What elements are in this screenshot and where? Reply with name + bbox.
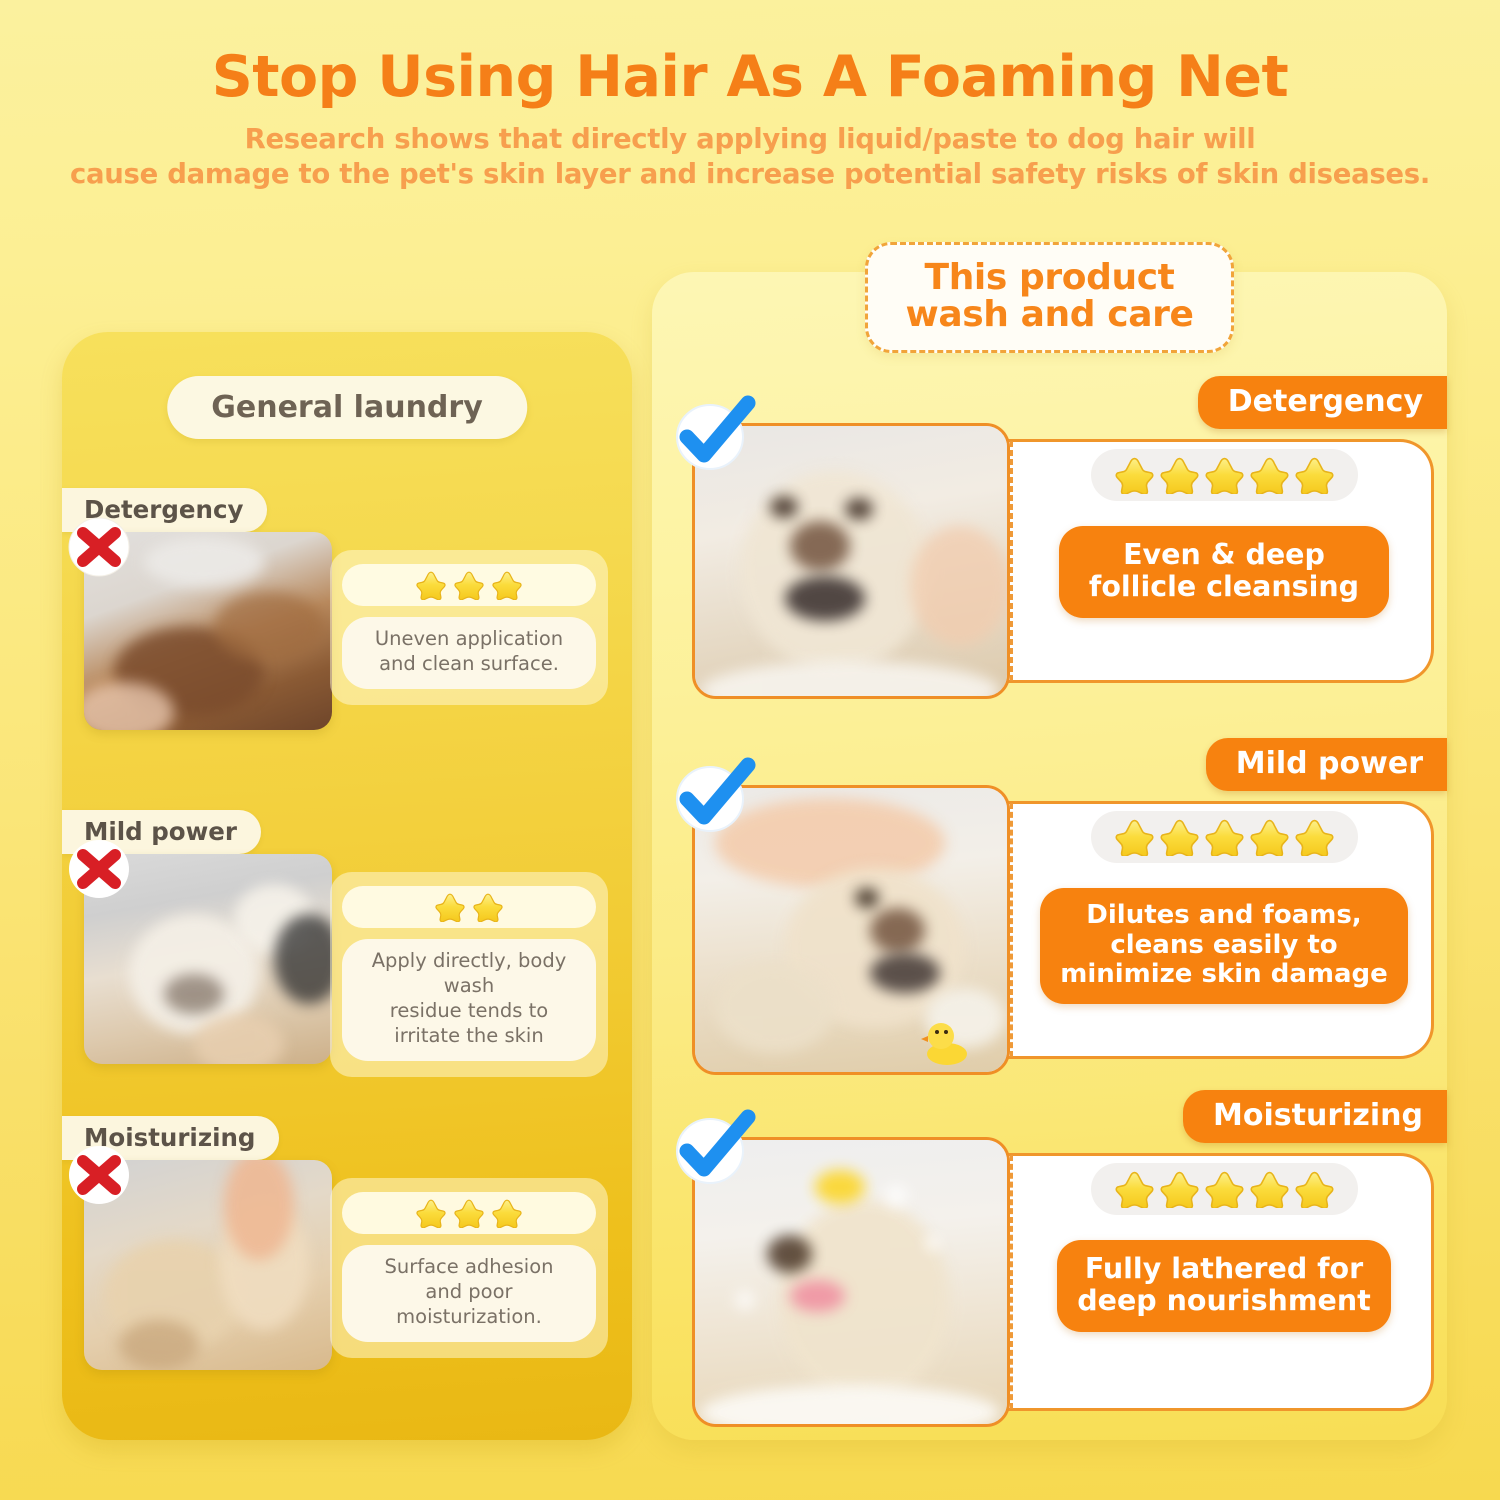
star-icon bbox=[1205, 457, 1244, 494]
subtitle-line-1: Research shows that directly applying li… bbox=[0, 122, 1500, 157]
star-icon bbox=[1205, 819, 1244, 856]
page-header: Stop Using Hair As A Foaming Net Researc… bbox=[0, 0, 1500, 192]
star-icon bbox=[435, 893, 465, 922]
red-x-icon bbox=[67, 516, 131, 578]
description-line: and poor moisturization. bbox=[356, 1280, 582, 1330]
page-subtitle: Research shows that directly applying li… bbox=[0, 122, 1500, 192]
message-line-1: Fully lathered for bbox=[1077, 1253, 1371, 1285]
left-panel-heading: General laundry bbox=[167, 376, 527, 439]
red-x-icon bbox=[67, 1144, 131, 1206]
right-card-message: Dilutes and foams, cleans easily to mini… bbox=[1040, 888, 1408, 1003]
star-icon bbox=[1160, 457, 1199, 494]
message-line-3: minimize skin damage bbox=[1060, 960, 1388, 989]
card-divider bbox=[1010, 441, 1013, 681]
left-row-rating bbox=[342, 1192, 596, 1234]
this-product-panel: This product wash and care Detergency bbox=[652, 272, 1447, 1440]
star-icon bbox=[454, 1199, 484, 1228]
star-icon bbox=[492, 571, 522, 600]
right-card-message: Fully lathered for deep nourishment bbox=[1057, 1240, 1391, 1332]
right-heading-line-2: wash and care bbox=[906, 296, 1194, 333]
star-icon bbox=[1250, 819, 1289, 856]
blue-check-icon bbox=[670, 393, 756, 473]
subtitle-line-2: cause damage to the pet's skin layer and… bbox=[0, 157, 1500, 192]
star-icon bbox=[492, 1199, 522, 1228]
star-icon bbox=[1115, 1171, 1154, 1208]
star-icon bbox=[1115, 457, 1154, 494]
star-icon bbox=[454, 571, 484, 600]
left-row-rating bbox=[342, 564, 596, 606]
left-row-description: Uneven applicationand clean surface. bbox=[342, 617, 596, 689]
star-icon bbox=[1295, 457, 1334, 494]
star-icon bbox=[1115, 819, 1154, 856]
right-panel-heading: This product wash and care bbox=[865, 242, 1235, 353]
right-heading-line-1: This product bbox=[906, 259, 1194, 296]
description-line: Surface adhesion bbox=[356, 1255, 582, 1280]
blue-check-icon bbox=[670, 755, 756, 835]
card-divider bbox=[1010, 1155, 1013, 1409]
page-title: Stop Using Hair As A Foaming Net bbox=[0, 48, 1500, 108]
rubber-duck-icon bbox=[921, 1018, 973, 1066]
star-icon bbox=[1160, 819, 1199, 856]
right-card-tag: Moisturizing bbox=[1183, 1090, 1447, 1143]
message-line-2: cleans easily to bbox=[1060, 931, 1388, 960]
star-icon bbox=[1250, 1171, 1289, 1208]
message-line-2: follicle cleansing bbox=[1079, 571, 1369, 603]
right-card-message: Even & deep follicle cleansing bbox=[1059, 526, 1389, 618]
right-card-content: Even & deep follicle cleansing bbox=[1028, 449, 1420, 618]
star-icon bbox=[416, 571, 446, 600]
star-icon bbox=[416, 1199, 446, 1228]
right-card-tag: Mild power bbox=[1206, 738, 1447, 791]
right-card-content: Dilutes and foams, cleans easily to mini… bbox=[1028, 811, 1420, 1004]
right-card-content: Fully lathered for deep nourishment bbox=[1028, 1163, 1420, 1332]
infographic-board: Stop Using Hair As A Foaming Net Researc… bbox=[0, 0, 1500, 1500]
description-line: and clean surface. bbox=[356, 652, 582, 677]
star-icon bbox=[1295, 819, 1334, 856]
blue-check-icon bbox=[670, 1107, 756, 1187]
description-line: Uneven application bbox=[356, 627, 582, 652]
left-row-info: Apply directly, body washresidue tends t… bbox=[330, 872, 608, 1077]
right-card-rating bbox=[1091, 811, 1358, 863]
message-line-2: deep nourishment bbox=[1077, 1285, 1371, 1317]
left-row-description: Surface adhesionand poor moisturization. bbox=[342, 1245, 596, 1342]
card-divider bbox=[1010, 803, 1013, 1057]
general-laundry-panel: General laundry Detergency bbox=[62, 332, 632, 1440]
left-row-rating bbox=[342, 886, 596, 928]
star-icon bbox=[473, 893, 503, 922]
right-card-tag: Detergency bbox=[1198, 376, 1447, 429]
left-row-info: Uneven applicationand clean surface. bbox=[330, 550, 608, 705]
left-row-description: Apply directly, body washresidue tends t… bbox=[342, 939, 596, 1061]
right-card-rating bbox=[1091, 1163, 1358, 1215]
description-line: residue tends to irritate the skin bbox=[356, 999, 582, 1049]
description-line: Apply directly, body wash bbox=[356, 949, 582, 999]
message-line-1: Dilutes and foams, bbox=[1060, 901, 1388, 930]
star-icon bbox=[1205, 1171, 1244, 1208]
star-icon bbox=[1160, 1171, 1199, 1208]
message-line-1: Even & deep bbox=[1079, 539, 1369, 571]
left-row-info: Surface adhesionand poor moisturization. bbox=[330, 1178, 608, 1358]
right-card-rating bbox=[1091, 449, 1358, 501]
red-x-icon bbox=[67, 838, 131, 900]
star-icon bbox=[1295, 1171, 1334, 1208]
star-icon bbox=[1250, 457, 1289, 494]
